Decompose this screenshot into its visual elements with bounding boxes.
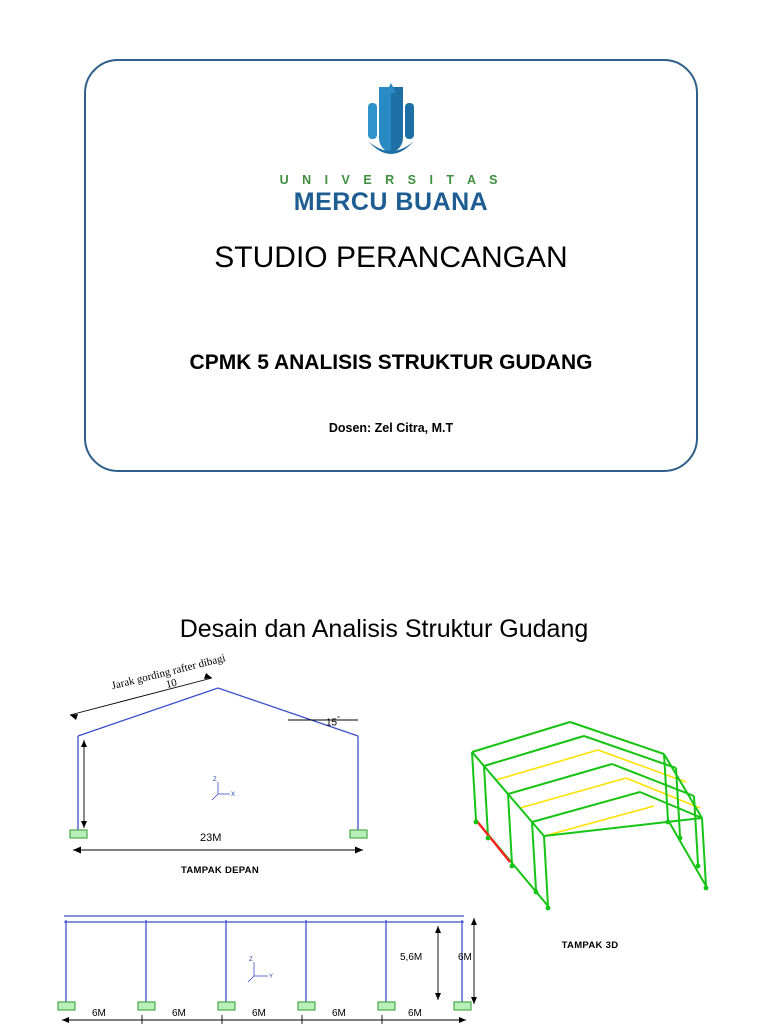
- page-subtitle: CPMK 5 ANALISIS STRUKTUR GUDANG: [86, 351, 696, 375]
- model-3d-view: [450, 700, 730, 950]
- side-axis-y-label: Y: [269, 974, 273, 980]
- bay-label-1: 6M: [92, 1008, 106, 1019]
- roof-angle-label: 15°: [326, 716, 340, 728]
- lecturer-label: Dosen: Zel Citra, M.T: [86, 421, 696, 435]
- front-view-caption: TAMPAK DEPAN: [150, 865, 290, 876]
- content-slide: Desain dan Analisis Struktur Gudang: [0, 560, 768, 1024]
- outer-height-label: 6M: [458, 952, 472, 963]
- mercu-buana-tower-logo: [348, 83, 434, 167]
- bay-label-3: 6M: [252, 1008, 266, 1019]
- title-slide-card: U N I V E R S I T A S MERCU BUANA STUDIO…: [84, 59, 698, 472]
- model-3d-caption: TAMPAK 3D: [530, 940, 650, 951]
- span-dimension-label: 23M: [200, 832, 221, 844]
- bay-label-4: 6M: [332, 1008, 346, 1019]
- logo-university-name: MERCU BUANA: [294, 188, 488, 217]
- page-title: STUDIO PERANCANGAN: [86, 241, 696, 275]
- content-slide-title: Desain dan Analisis Struktur Gudang: [0, 615, 768, 644]
- bay-label-5: 6M: [408, 1008, 422, 1019]
- bay-label-2: 6M: [172, 1008, 186, 1019]
- front-axis-z-label: Z: [213, 777, 217, 783]
- logo-university-word: U N I V E R S I T A S: [280, 173, 503, 187]
- logo-block: U N I V E R S I T A S MERCU BUANA: [86, 83, 696, 217]
- inner-height-label: 5,6M: [400, 952, 422, 963]
- front-axis-x-label: X: [231, 792, 235, 798]
- side-axis-z-label: Z: [249, 957, 253, 963]
